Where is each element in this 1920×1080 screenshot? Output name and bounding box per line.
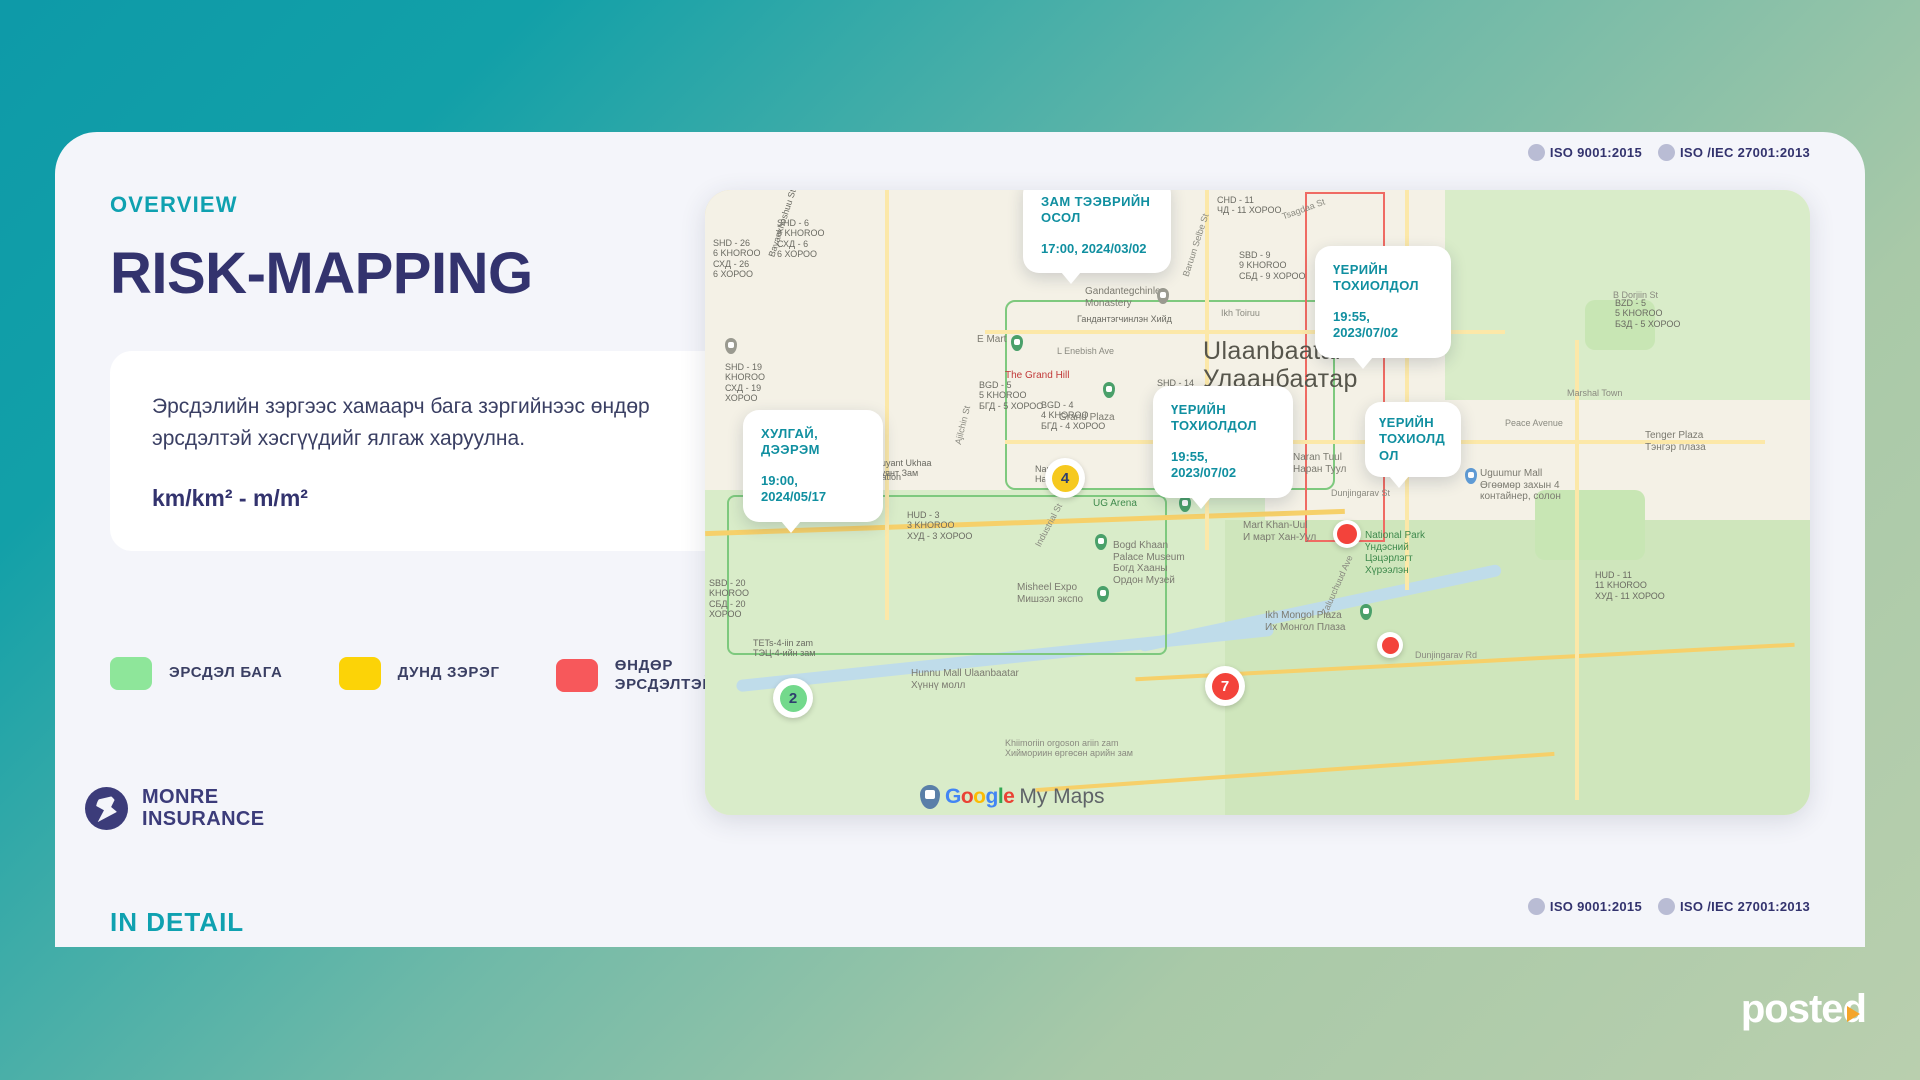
callout-time: 19:00, 2024/05/17 [761,473,865,506]
map-label-poi: The Grand Hill [1005,370,1069,382]
map-label-road: Khiimoriin orgoson ariin zam Хиймориин ө… [1005,738,1133,759]
risk-marker-value [1382,637,1399,654]
unit-text: km/km² - m/m² [152,485,723,512]
risk-legend: ЭРСДЭЛ БАГА ДУНД ЗЭРЭГ ӨНДӨР ЭРСДЭЛТЭЙ [110,657,714,695]
map-label-poi: National Park Үндэсний Цэцэрлэгт Хүрээлэ… [1365,530,1425,576]
page-title: RISK-MAPPING [110,240,790,307]
callout-tail [1191,497,1211,509]
map-label-poi: UG Arena [1093,498,1137,510]
map-label-poi: Mart Khan-Uul И март Хан-Уул [1243,520,1316,543]
legend-label-low: ЭРСДЭЛ БАГА [169,664,283,683]
risk-marker-value [1337,524,1357,544]
my-maps-label: My Maps [1019,785,1104,809]
map-label-poi: Bogd Khaan Palace Museum Богд Хааны Ордо… [1113,540,1185,586]
iso-badge-label: ISO /IEC 27001:2013 [1680,899,1810,914]
map-label: SHD - 19 KHOROO СХД - 19 ХОРОО [725,362,765,403]
map-label-road: Dunjingarav Rd [1415,650,1477,660]
legend-item-medium: ДУНД ЗЭРЭГ [339,657,500,690]
iso-badges-bottom: ISO 9001:2015 ISO /IEC 27001:2013 [1528,898,1810,915]
iso-badge-label: ISO /IEC 27001:2013 [1680,145,1810,160]
map-label-poi: Grand Plaza [1059,412,1115,424]
iso-badge-label: ISO 9001:2015 [1550,899,1642,914]
map-label-poi: Ikh Mongol Plaza Их Монгол Плаза [1265,610,1346,633]
description-card: Эрсдэлийн зэргээс хамаарч бага зэргийнээ… [110,351,765,551]
callout-road-accident[interactable]: ЗАМ ТЭЭВРИЙН ОСОЛ 17:00, 2024/03/02 [1023,190,1171,273]
callout-title: ҮЕРИЙН ТОХИОЛДОЛ [1333,262,1433,295]
risk-marker-value: 4 [1052,465,1079,492]
map-label: BGD - 5 5 KHOROO БГД - 5 ХОРОО [979,380,1043,411]
map-label-poi: Misheel Expo Мишээл экспо [1017,582,1083,605]
iso-seal-icon [1658,144,1675,161]
callout-title: ХУЛГАЙ, ДЭЭРЭМ [761,426,865,459]
map-label: Гандантэгчинлэн Хийд [1077,314,1172,324]
iso-badge-label: ISO 9001:2015 [1550,145,1642,160]
road-ajilchin [885,190,889,620]
risk-marker-high[interactable] [1377,632,1403,658]
risk-marker-low[interactable]: 2 [773,678,813,718]
callout-title: ҮЕРИЙН ТОХИОЛДОЛ [1171,402,1275,435]
map-label-poi: Tenger Plaza Тэнгэр плаза [1645,430,1706,453]
map-label-road: B Dorjiin St [1613,290,1658,300]
map-label-road: Peace Avenue [1505,418,1563,428]
map-label-poi: E Mart [977,334,1006,346]
risk-marker-high[interactable]: 7 [1205,666,1245,706]
legend-item-low: ЭРСДЭЛ БАГА [110,657,283,690]
iso-badge: ISO 9001:2015 [1528,144,1642,161]
iso-seal-icon [1528,144,1545,161]
callout-tail [1353,357,1373,369]
play-triangle-icon [1847,1006,1860,1022]
callout-time: 19:55, 2023/07/02 [1333,309,1433,342]
brand-logo: MONRE INSURANCE [85,787,265,830]
legend-item-high: ӨНДӨР ЭРСДЭЛТЭЙ [556,657,714,695]
legend-label-medium: ДУНД ЗЭРЭГ [398,664,500,683]
iso-seal-icon [1528,898,1545,915]
slide-card: ISO 9001:2015 ISO /IEC 27001:2013 ISO 90… [55,132,1865,947]
risk-marker-value: 7 [1212,673,1239,700]
map-label: HUD - 11 11 KHOROO ХУД - 11 ХОРОО [1595,570,1665,601]
map-label: SBD - 20 KHOROO СБД - 20 ХОРОО [709,578,749,619]
google-maps-pin-icon [920,785,940,809]
description-text: Эрсдэлийн зэргээс хамаарч бага зэргийнээ… [152,391,723,455]
iso-badge: ISO /IEC 27001:2013 [1658,144,1810,161]
map-label: TETs-4-iin zam ТЭЦ-4-ийн зам [753,638,815,659]
monre-logo-icon [85,787,128,830]
map-label-road: Ikh Toiruu [1221,308,1260,318]
google-wordmark: Google [945,785,1014,809]
callout-flood-ne[interactable]: ҮЕРИЙН ТОХИОЛДОЛ 19:55, 2023/07/02 [1315,246,1451,358]
risk-map[interactable]: SHD - 26 6 KHOROO СХД - 26 6 ХОРОО SHD -… [705,190,1810,815]
posted-watermark: posted [1741,987,1860,1032]
callout-time: 19:55, 2023/07/02 [1171,449,1275,482]
callout-tail [1061,272,1081,284]
left-column: OVERVIEW RISK-MAPPING Эрсдэлийн зэргээс … [110,192,790,551]
callout-title: ЗАМ ТЭЭВРИЙН ОСОЛ [1041,194,1153,227]
map-label: CHD - 11 ЧД - 11 ХОРОО [1217,195,1281,216]
map-label: HUD - 3 3 KHOROO ХУД - 3 ХОРОО [907,510,972,541]
callout-time: 17:00, 2024/03/02 [1041,241,1153,257]
legend-label-high: ӨНДӨР ЭРСДЭЛТЭЙ [615,657,714,695]
road-dunjingarav [1575,340,1579,800]
map-label: SBD - 9 9 KHOROO СБД - 9 ХОРОО [1239,250,1306,281]
callout-title: ҮЕРИЙН ТОХИОЛД ОЛ [1379,415,1447,464]
map-label-road: Dunjingarav St [1331,488,1390,498]
iso-seal-icon [1658,898,1675,915]
map-label-poi: Uguumur Mall Өгөөмөр захын 4 контайнер, … [1480,468,1561,503]
map-label-road: L Enebish Ave [1057,346,1114,356]
map-label: SHD - 26 6 KHOROO СХД - 26 6 ХОРОО [713,238,761,279]
callout-flood-east[interactable]: ҮЕРИЙН ТОХИОЛД ОЛ [1365,402,1461,477]
map-canvas[interactable]: SHD - 26 6 KHOROO СХД - 26 6 ХОРОО SHD -… [705,190,1810,815]
brand-name: MONRE INSURANCE [142,787,265,830]
iso-badge: ISO 9001:2015 [1528,898,1642,915]
risk-marker-high[interactable] [1333,520,1361,548]
next-section-title: IN DETAIL [110,907,244,938]
map-label-poi: Naran Tuul Наран Туул [1293,452,1346,475]
callout-tail [781,521,801,533]
google-my-maps-attribution: Google My Maps [920,785,1105,809]
risk-marker-medium[interactable]: 4 [1045,458,1085,498]
callout-tail [1389,476,1409,488]
iso-badge: ISO /IEC 27001:2013 [1658,898,1810,915]
legend-swatch-high [556,659,598,692]
map-label-poi: Gandantegchinlen Monastery [1085,286,1166,309]
legend-swatch-medium [339,657,381,690]
map-label: BZD - 5 5 KHOROO БЗД - 5 ХОРОО [1615,298,1680,329]
map-label-poi: Hunnu Mall Ulaanbaatar Хүннү молл [911,668,1019,691]
legend-swatch-low [110,657,152,690]
callout-flood-center[interactable]: ҮЕРИЙН ТОХИОЛДОЛ 19:55, 2023/07/02 [1153,386,1293,498]
section-eyebrow: OVERVIEW [110,192,790,218]
risk-marker-value: 2 [780,685,807,712]
map-label-road: Marshal Town [1567,388,1622,398]
iso-badges-top: ISO 9001:2015 ISO /IEC 27001:2013 [1528,144,1810,161]
callout-theft[interactable]: ХУЛГАЙ, ДЭЭРЭМ 19:00, 2024/05/17 [743,410,883,522]
